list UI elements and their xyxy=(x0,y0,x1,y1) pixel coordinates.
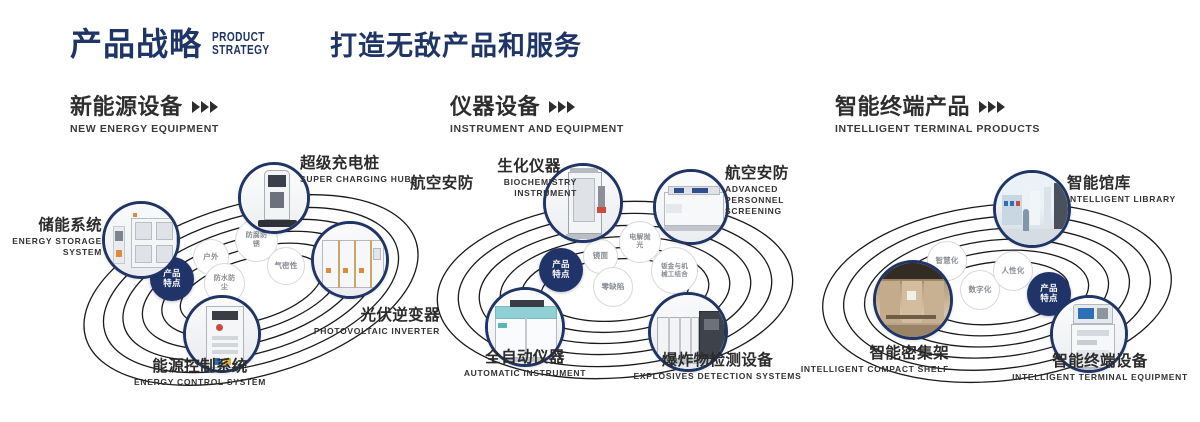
core-badge-line1: 产品 xyxy=(552,259,569,269)
section-title-cn: 智能终端产品 xyxy=(835,95,970,119)
node-label-biochemistry: 生化仪器 BIOCHEMISTRY INSTRUMENT xyxy=(469,158,589,199)
feature-bubble-text: 防水防尘 xyxy=(213,275,237,291)
product-strategy-infographic: 产品战略 PRODUCT STRATEGY 打造无敌产品和服务 新能源设备 NE… xyxy=(0,0,1200,422)
node-label-automatic-instrument: 全自动仪器 AUTOMATIC INSTRUMENT xyxy=(435,349,615,379)
feature-bubble: 人性化 xyxy=(993,251,1033,291)
feature-bubble: 气密性 xyxy=(267,247,305,285)
feature-bubble-text: 防腐防锈 xyxy=(244,232,270,248)
section-title-en: INSTRUMENT AND EQUIPMENT xyxy=(450,123,624,135)
core-badge: 产品 特点 xyxy=(539,248,583,292)
node-photo-intelligent-library[interactable] xyxy=(993,170,1071,248)
node-photo-energy-storage[interactable] xyxy=(102,201,180,279)
feature-bubble: 钣金与机械工结合 xyxy=(651,247,698,294)
node-label-en: INTELLIGENT TERMINAL EQUIPMENT xyxy=(1000,372,1200,383)
section-title-cn: 新能源设备 xyxy=(70,95,183,119)
page-title-en-line2: STRATEGY xyxy=(212,43,270,57)
section-header-intelligent-terminal: 智能终端产品 INTELLIGENT TERMINAL PRODUCTS xyxy=(835,95,1040,135)
node-label-en: INTELLIGENT COMPACT SHELF xyxy=(777,364,949,375)
node-label-en: AUTOMATIC INSTRUMENT xyxy=(435,368,615,379)
node-label-en: ENERGY STORAGE SYSTEM xyxy=(10,236,102,257)
core-badge-line2: 特点 xyxy=(552,269,569,279)
chevron-right-icon xyxy=(192,101,218,113)
cluster-instrument: 产品 特点 镜面 电解抛光 零缺陷 钣金与机械工结合 航空安防 xyxy=(415,155,815,395)
node-label-cn: 生化仪器 xyxy=(469,158,589,175)
node-label-energy-storage: 储能系统 ENERGY STORAGE SYSTEM xyxy=(10,217,102,258)
section-title-en: NEW ENERGY EQUIPMENT xyxy=(70,123,219,135)
section-title-cn: 仪器设备 xyxy=(450,95,540,119)
node-label-en: INTELLIGENT LIBRARY xyxy=(1067,194,1200,205)
node-label-terminal-equipment: 智能终端设备 INTELLIGENT TERMINAL EQUIPMENT xyxy=(1000,353,1200,383)
node-label-cn: 全自动仪器 xyxy=(435,349,615,366)
node-label-cn: 储能系统 xyxy=(10,217,102,234)
page-title: 产品战略 PRODUCT STRATEGY xyxy=(70,28,286,60)
cluster-intelligent-terminal: 智慧化 数字化 人性化 产品 特点 智能馆 xyxy=(805,155,1200,395)
node-label-en: BIOCHEMISTRY INSTRUMENT xyxy=(469,177,577,198)
feature-bubble: 零缺陷 xyxy=(593,267,633,307)
node-photo-personnel-screening[interactable] xyxy=(653,169,729,245)
section-header-instrument: 仪器设备 INSTRUMENT AND EQUIPMENT xyxy=(450,95,624,135)
node-label-en: ENERGY CONTROL SYSTEM xyxy=(85,377,315,388)
section-title-en: INTELLIGENT TERMINAL PRODUCTS xyxy=(835,123,1040,135)
page-title-en: PRODUCT STRATEGY xyxy=(212,30,270,60)
node-label-cn: 智能馆库 xyxy=(1067,175,1200,192)
core-badge-line1: 产品 xyxy=(1040,283,1057,293)
cluster-new-energy: 产品 特点 户外 防腐防锈 防水防尘 气密性 xyxy=(55,155,445,390)
node-label-cn: 能源控制系统 xyxy=(85,358,315,375)
page-title-cn: 产品战略 xyxy=(70,28,202,60)
node-label-compact-shelf: 智能密集架 INTELLIGENT COMPACT SHELF xyxy=(777,345,949,375)
chevron-right-icon xyxy=(549,101,575,113)
section-header-new-energy: 新能源设备 NEW ENERGY EQUIPMENT xyxy=(70,95,219,135)
page-subtitle: 打造无敌产品和服务 xyxy=(330,33,582,60)
node-label-cn: 超级充电桩 xyxy=(300,155,430,172)
node-label-energy-control: 能源控制系统 ENERGY CONTROL SYSTEM xyxy=(85,358,315,388)
feature-bubble-text: 钣金与机械工结合 xyxy=(658,263,691,278)
node-photo-compact-shelf[interactable] xyxy=(873,260,953,340)
page-title-en-line1: PRODUCT xyxy=(212,30,270,44)
chevron-right-icon xyxy=(979,101,1005,113)
node-photo-pv-inverter[interactable] xyxy=(311,221,389,299)
feature-bubble-text: 电解抛光 xyxy=(628,234,653,250)
node-label-cn: 智能终端设备 xyxy=(1000,353,1200,370)
node-label-intelligent-library: 智能馆库 INTELLIGENT LIBRARY xyxy=(1067,175,1200,205)
node-label-cn: 智能密集架 xyxy=(777,345,949,362)
core-badge-line2: 特点 xyxy=(163,278,180,288)
